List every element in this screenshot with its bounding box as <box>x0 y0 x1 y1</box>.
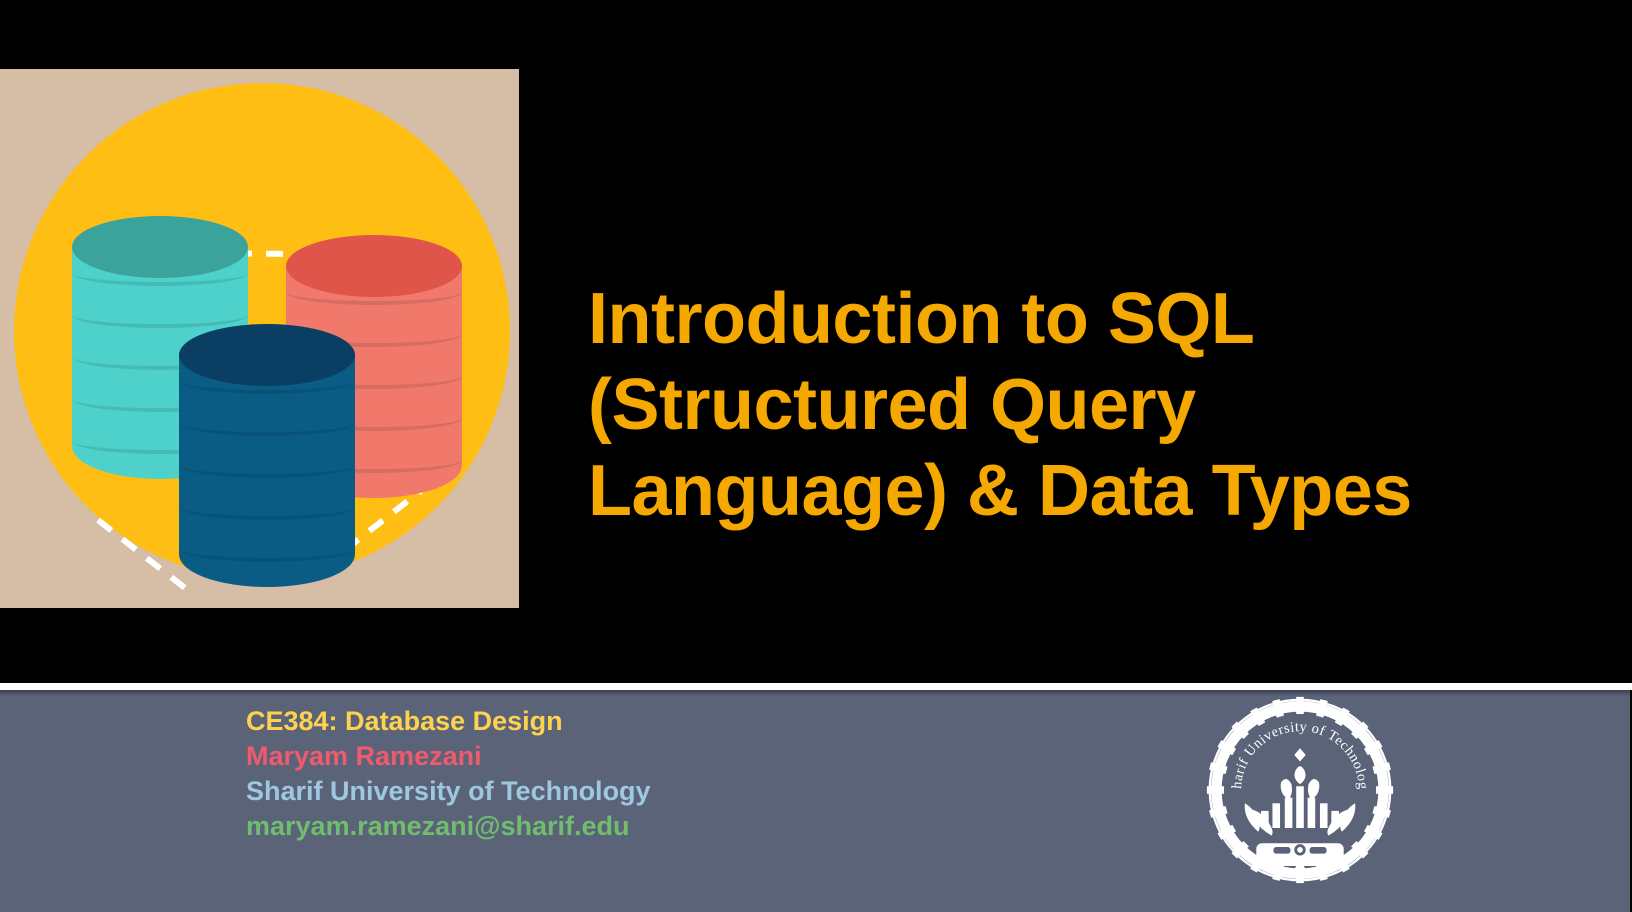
cylinder-ring <box>179 536 355 562</box>
database-cylinder-navy <box>179 354 355 587</box>
institution-name: Sharif University of Technology <box>246 774 651 809</box>
cylinder-top-disc <box>286 235 462 297</box>
course-title: CE384: Database Design <box>246 704 651 739</box>
title-line-2: (Structured Query <box>588 362 1488 448</box>
cylinder-ring <box>179 494 355 520</box>
presentation-slide: Introduction to SQL (Structured Query La… <box>0 0 1632 912</box>
credits-block: CE384: Database Design Maryam Ramezani S… <box>246 704 651 844</box>
database-stack-illustration <box>0 69 519 608</box>
cylinder-ring <box>179 452 355 478</box>
footer-divider <box>0 683 1632 690</box>
cylinder-ring <box>72 302 248 328</box>
slide-title: Introduction to SQL (Structured Query La… <box>588 276 1488 534</box>
cylinder-ring <box>179 410 355 436</box>
instructor-email: maryam.ramezani@sharif.edu <box>246 809 651 844</box>
instructor-name: Maryam Ramezani <box>246 739 651 774</box>
title-line-1: Introduction to SQL <box>588 276 1488 362</box>
slide-footer: CE384: Database Design Maryam Ramezani S… <box>0 690 1630 912</box>
cylinder-top-disc <box>179 324 355 386</box>
sharif-university-logo: Sharif University of Technology <box>1205 695 1395 885</box>
cylinder-top-disc <box>72 216 248 278</box>
title-line-3: Language) & Data Types <box>588 448 1488 534</box>
